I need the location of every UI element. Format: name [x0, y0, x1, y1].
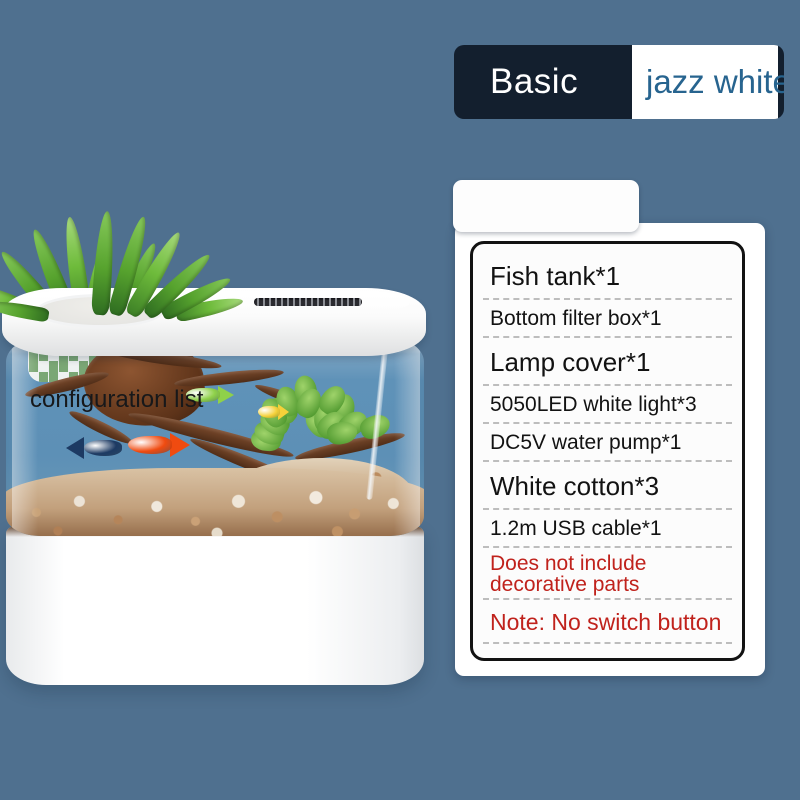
- list-item: White cotton*3: [473, 462, 742, 510]
- list-item-label: 1.2m USB cable*1: [490, 517, 662, 541]
- tier-label: Basic: [490, 62, 578, 102]
- list-item-label: Lamp cover*1: [490, 347, 650, 378]
- tank-lid: [2, 288, 426, 356]
- product-listing-image: Basic jazz white configuration list Fish…: [0, 0, 800, 800]
- list-item: Note: No switch button: [473, 600, 742, 644]
- fish-tail: [66, 437, 84, 459]
- fish-orange-fish: [128, 436, 192, 454]
- top-aquatic-plant: [10, 140, 200, 315]
- fish-body: [84, 440, 122, 456]
- list-item-label: Does not include decorative parts: [490, 553, 742, 596]
- fish-body: [128, 436, 172, 454]
- configuration-list-box: Fish tank*1Bottom filter box*1Lamp cover…: [470, 241, 745, 661]
- list-item: DC5V water pump*1: [473, 424, 742, 462]
- lid-vent-slot: [254, 298, 362, 306]
- list-item: Fish tank*1: [473, 252, 742, 300]
- fish-tail: [218, 386, 234, 404]
- list-item: Bottom filter box*1: [473, 300, 742, 338]
- configuration-list-title: configuration list: [30, 386, 203, 414]
- list-item: 1.2m USB cable*1: [473, 510, 742, 548]
- fish-blue-guppy: [66, 440, 122, 456]
- glass-highlight-right: [394, 336, 420, 536]
- gravel-bed: [6, 468, 424, 536]
- configuration-list-tab: [453, 180, 639, 232]
- filter-grid-cell: [39, 372, 48, 382]
- list-item-label: Fish tank*1: [490, 261, 620, 292]
- list-item-label: Note: No switch button: [490, 609, 721, 636]
- tank-glass-body: [6, 336, 424, 536]
- list-item-label: 5050LED white light*3: [490, 393, 697, 417]
- filter-grid-cell: [39, 361, 48, 372]
- list-trailing-divider: [473, 644, 742, 661]
- list-item: Does not include decorative parts: [473, 548, 742, 600]
- list-item: Lamp cover*1: [473, 338, 742, 386]
- list-item-label: Bottom filter box*1: [490, 307, 662, 331]
- list-item-label: DC5V water pump*1: [490, 431, 681, 455]
- configuration-list-panel: Fish tank*1Bottom filter box*1Lamp cover…: [455, 223, 765, 676]
- variant-label: jazz white: [646, 63, 784, 101]
- inner-green-plant: [246, 358, 366, 442]
- fish-yellow-fish: [258, 406, 291, 418]
- list-item-label: White cotton*3: [490, 471, 659, 502]
- list-item: 5050LED white light*3: [473, 386, 742, 424]
- fish-tail: [170, 433, 190, 457]
- variant-banner: Basic jazz white: [454, 45, 784, 119]
- filter-grid-cell: [59, 361, 68, 372]
- filter-grid-cell: [49, 361, 58, 372]
- fish-body: [258, 406, 280, 418]
- tank-base-housing: [6, 525, 424, 685]
- filter-grid-cell: [69, 361, 78, 372]
- glass-highlight-left: [12, 336, 38, 536]
